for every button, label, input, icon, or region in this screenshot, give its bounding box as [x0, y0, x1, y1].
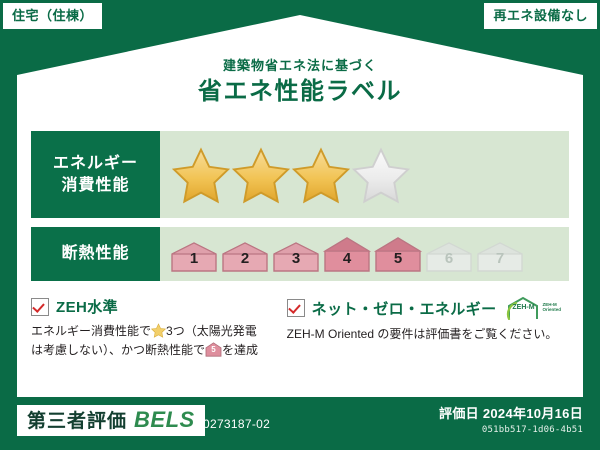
house-icon [272, 241, 320, 272]
net-zero-title: ネット・ゼロ・エネルギー [312, 298, 497, 319]
insulation-label-text: 断熱性能 [61, 243, 129, 265]
insulation-level-1: 1 [170, 241, 218, 272]
insulation-performance-label: 断熱性能 [31, 227, 160, 281]
house-icon [374, 236, 422, 272]
bels-badge: 第三者評価 BELS [17, 405, 205, 436]
page-title: 建築物省エネ法に基づく 省エネ性能ラベル [0, 58, 600, 106]
evaluation-uid: 051bb517-1d06-4b51 [439, 425, 583, 435]
insulation-level-5: 5 [374, 236, 422, 272]
net-zero-energy-note: ネット・ゼロ・エネルギー ZEH-M ZEH-M Oriented [287, 296, 569, 359]
evaluation-date: 評価日 2024年10月16日 [439, 403, 583, 422]
criteria-notes: ZEH水準 エネルギー消費性能で3つ（太陽光発電 は考慮しない）、かつ断熱性能で… [31, 296, 569, 359]
star-rating [172, 146, 410, 204]
zeh-m-logo-sub2: Oriented [542, 308, 561, 313]
star-filled-icon [232, 146, 290, 204]
star-empty-icon [352, 146, 410, 204]
bels-certificate-number: 0273187-02 [203, 417, 270, 431]
energy-performance-label: エネルギー 消費性能 [31, 131, 160, 218]
zeh-body-part2: 3つ（太陽光発電 [166, 324, 257, 338]
energy-performance-row: エネルギー 消費性能 [31, 131, 569, 218]
insulation-level-3: 3 [272, 241, 320, 272]
insulation-scale: 1234567 [170, 236, 524, 272]
insulation-performance-value: 1234567 [160, 227, 569, 281]
energy-label-line2: 消費性能 [61, 175, 129, 197]
zeh-m-logo-text: ZEH-M [506, 304, 540, 311]
star-filled-icon [172, 146, 230, 204]
house-icon [476, 241, 524, 272]
building-type-tag: 住宅（住棟） [3, 3, 102, 29]
energy-performance-value [160, 131, 569, 218]
inline-house-number: 5 [205, 344, 222, 356]
inline-star-icon [151, 323, 166, 338]
heading-subtitle: 建築物省エネ法に基づく [0, 58, 600, 74]
zeh-body-part3: は考慮しない）、かつ断熱性能で [31, 343, 205, 357]
bels-badge-jp: 第三者評価 [27, 412, 127, 431]
zeh-standard-checkbox[interactable] [31, 298, 49, 316]
zeh-m-logo: ZEH-M ZEH-M Oriented [506, 296, 561, 320]
footer-bar: 第三者評価 BELS 0273187-02 評価日 2024年10月16日 05… [0, 397, 600, 450]
performance-panel: エネルギー 消費性能 断熱性能 1234567 [31, 131, 569, 281]
bels-badge-en: BELS [134, 409, 195, 431]
star-filled-icon [292, 146, 350, 204]
net-zero-checkbox[interactable] [287, 299, 305, 317]
renewable-equipment-tag: 再エネ設備なし [484, 3, 597, 29]
house-icon [425, 241, 473, 272]
house-icon [323, 236, 371, 272]
energy-label-card: 住宅（住棟） 再エネ設備なし 建築物省エネ法に基づく 省エネ性能ラベル エネルギ… [0, 0, 600, 450]
house-icon [221, 241, 269, 272]
insulation-level-6: 6 [425, 241, 473, 272]
zeh-standard-title: ZEH水準 [56, 296, 118, 317]
zeh-body-part1: エネルギー消費性能で [31, 324, 151, 338]
evaluation-info: 評価日 2024年10月16日 051bb517-1d06-4b51 [439, 403, 583, 435]
net-zero-header: ネット・ゼロ・エネルギー ZEH-M ZEH-M Oriented [287, 296, 561, 320]
zeh-body-part4: を達成 [222, 343, 258, 357]
house-icon [170, 241, 218, 272]
heading-title: 省エネ性能ラベル [0, 78, 600, 107]
net-zero-body: ZEH-M Oriented の要件は評価書をご覧ください。 [287, 325, 561, 344]
zeh-standard-note: ZEH水準 エネルギー消費性能で3つ（太陽光発電 は考慮しない）、かつ断熱性能で… [31, 296, 287, 359]
zeh-standard-header: ZEH水準 [31, 296, 279, 317]
insulation-level-7: 7 [476, 241, 524, 272]
inline-house-badge: 5 [205, 342, 222, 357]
insulation-level-4: 4 [323, 236, 371, 272]
energy-label-line1: エネルギー [53, 153, 138, 175]
insulation-performance-row: 断熱性能 1234567 [31, 227, 569, 281]
insulation-level-2: 2 [221, 241, 269, 272]
zeh-standard-body: エネルギー消費性能で3つ（太陽光発電 は考慮しない）、かつ断熱性能で5を達成 [31, 322, 279, 359]
